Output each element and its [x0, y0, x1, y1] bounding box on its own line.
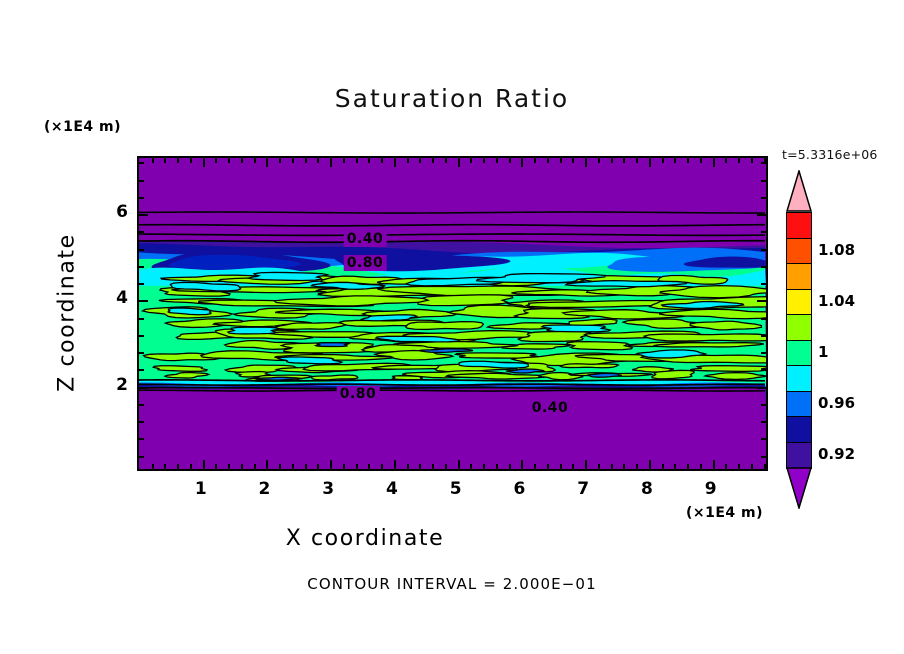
x-axis-top-tick — [177, 158, 179, 163]
x-axis-major-tick — [585, 460, 587, 469]
x-axis-minor-tick — [292, 464, 294, 469]
x-axis-minor-tick — [483, 464, 485, 469]
x-axis-major-tick — [713, 460, 715, 469]
x-axis-top-tick — [623, 158, 625, 163]
colorbar[interactable]: 1.081.0410.960.92 — [786, 212, 812, 467]
x-axis-top-tick — [585, 158, 587, 167]
x-axis-top-tick — [241, 158, 243, 163]
y-axis-right-tick — [761, 421, 766, 423]
x-axis-minor-tick — [547, 464, 549, 469]
y-axis-right-tick — [757, 387, 766, 389]
x-axis-top-tick — [215, 158, 217, 163]
x-axis-top-tick — [254, 158, 256, 163]
y-axis-right-tick — [757, 300, 766, 302]
x-axis-top-tick — [419, 158, 421, 163]
x-axis-minor-tick — [560, 464, 562, 469]
x-axis-minor-tick — [343, 464, 345, 469]
x-axis-top-tick — [203, 158, 205, 167]
x-axis-top-tick — [305, 158, 307, 163]
x-axis-minor-tick — [509, 464, 511, 469]
page-title: Saturation Ratio — [0, 84, 904, 113]
x-axis-top-tick — [228, 158, 230, 163]
x-axis-minor-tick — [228, 464, 230, 469]
colorbar-cell-0 — [786, 212, 812, 239]
y-axis-right-tick — [761, 283, 766, 285]
contour-plot-area[interactable] — [137, 156, 768, 471]
contour-label: 0.40 — [529, 400, 572, 416]
x-axis-minor-tick — [623, 464, 625, 469]
x-axis-top-tick — [394, 158, 396, 167]
x-axis-top-tick — [509, 158, 511, 163]
x-axis-top-tick — [547, 158, 549, 163]
x-axis-top-tick — [611, 158, 613, 163]
colorbar-cell-2 — [786, 263, 812, 290]
x-axis-top-tick — [152, 158, 154, 163]
x-axis-minor-tick — [317, 464, 319, 469]
y-axis-minor-tick — [139, 456, 144, 458]
x-axis-top-tick — [381, 158, 383, 163]
y-tick-label-2: 2 — [106, 375, 128, 395]
x-axis-minor-tick — [190, 464, 192, 469]
x-axis-minor-tick — [674, 464, 676, 469]
x-axis-top-tick — [725, 158, 727, 163]
x-axis-top-tick — [445, 158, 447, 163]
y-axis-minor-tick — [139, 369, 144, 371]
x-axis-top-tick — [496, 158, 498, 163]
y-axis-right-tick — [761, 456, 766, 458]
x-axis-minor-tick — [254, 464, 256, 469]
x-axis-top-tick — [636, 158, 638, 163]
x-tick-label-3: 3 — [322, 479, 334, 499]
x-axis-top-tick — [432, 158, 434, 163]
y-axis-major-tick — [139, 300, 148, 302]
x-axis-major-tick — [458, 460, 460, 469]
y-axis-minor-tick — [139, 162, 144, 164]
colorbar-cell-5 — [786, 340, 812, 367]
y-axis-minor-tick — [139, 249, 144, 251]
x-axis-minor-tick — [177, 464, 179, 469]
x-tick-label-6: 6 — [514, 479, 526, 499]
y-axis-right-tick — [761, 162, 766, 164]
x-axis-minor-tick — [611, 464, 613, 469]
contour-field — [139, 158, 766, 469]
x-axis-top-tick — [368, 158, 370, 163]
y-axis-minor-tick — [139, 352, 144, 354]
colorbar-cell-4 — [786, 314, 812, 341]
y-axis-right-tick — [757, 214, 766, 216]
x-axis-top-tick — [700, 158, 702, 163]
colorbar-cell-7 — [786, 391, 812, 418]
x-axis-minor-tick — [764, 464, 766, 469]
x-axis-minor-tick — [496, 464, 498, 469]
x-axis-minor-tick — [279, 464, 281, 469]
x-axis-top-tick — [572, 158, 574, 163]
x-axis-minor-tick — [381, 464, 383, 469]
y-axis-right-tick — [761, 318, 766, 320]
y-axis-right-tick — [761, 335, 766, 337]
x-axis-major-tick — [203, 460, 205, 469]
x-axis-top-tick — [751, 158, 753, 163]
y-axis-right-tick — [761, 266, 766, 268]
y-axis-major-tick — [139, 214, 148, 216]
x-axis-top-tick — [687, 158, 689, 163]
y-axis-right-tick — [761, 180, 766, 182]
y-axis-right-tick — [761, 369, 766, 371]
time-annotation: t=5.3316e+06 — [782, 147, 878, 162]
x-axis-top-tick — [343, 158, 345, 163]
colorbar-label-1: 1 — [818, 343, 828, 361]
y-axis-unit-label: (×1E4 m) — [44, 119, 121, 135]
x-axis-minor-tick — [432, 464, 434, 469]
x-axis-title: X coordinate — [0, 526, 730, 551]
x-axis-minor-tick — [751, 464, 753, 469]
y-axis-minor-tick — [139, 421, 144, 423]
x-axis-top-tick — [598, 158, 600, 163]
contour-label: 0.80 — [337, 386, 380, 402]
x-axis-top-tick — [534, 158, 536, 163]
colorbar-extend-top — [786, 170, 812, 212]
colorbar-label-0-96: 0.96 — [818, 394, 855, 412]
x-axis-major-tick — [649, 460, 651, 469]
x-axis-minor-tick — [241, 464, 243, 469]
x-axis-top-tick — [164, 158, 166, 163]
x-axis-top-tick — [292, 158, 294, 163]
x-tick-label-1: 1 — [195, 479, 207, 499]
x-axis-top-tick — [317, 158, 319, 163]
x-axis-top-tick — [560, 158, 562, 163]
contour-label: 0.80 — [344, 255, 387, 271]
x-tick-label-7: 7 — [577, 479, 589, 499]
contour-interval-caption: CONTOUR INTERVAL = 2.000E−01 — [0, 575, 904, 593]
y-axis-minor-tick — [139, 404, 144, 406]
x-axis-top-tick — [330, 158, 332, 167]
x-axis-minor-tick — [215, 464, 217, 469]
x-axis-minor-tick — [738, 464, 740, 469]
y-tick-label-4: 4 — [106, 288, 128, 308]
y-tick-label-6: 6 — [106, 202, 128, 222]
y-axis-right-tick — [761, 249, 766, 251]
x-axis-major-tick — [521, 460, 523, 469]
colorbar-cell-9 — [786, 442, 812, 469]
x-axis-minor-tick — [164, 464, 166, 469]
x-axis-minor-tick — [534, 464, 536, 469]
y-axis-title: Z coordinate — [55, 213, 80, 413]
y-axis-minor-tick — [139, 318, 144, 320]
x-axis-top-tick — [521, 158, 523, 167]
x-axis-minor-tick — [152, 464, 154, 469]
x-axis-top-tick — [190, 158, 192, 163]
x-axis-minor-tick — [636, 464, 638, 469]
x-axis-top-tick — [407, 158, 409, 163]
x-axis-major-tick — [266, 460, 268, 469]
x-axis-minor-tick — [662, 464, 664, 469]
x-axis-minor-tick — [368, 464, 370, 469]
x-tick-label-9: 9 — [705, 479, 717, 499]
x-axis-major-tick — [330, 460, 332, 469]
y-axis-minor-tick — [139, 266, 144, 268]
x-axis-minor-tick — [572, 464, 574, 469]
x-axis-minor-tick — [356, 464, 358, 469]
x-axis-top-tick — [266, 158, 268, 167]
y-axis-minor-tick — [139, 180, 144, 182]
y-axis-right-tick — [761, 197, 766, 199]
x-axis-minor-tick — [598, 464, 600, 469]
x-axis-top-tick — [738, 158, 740, 163]
x-axis-minor-tick — [700, 464, 702, 469]
x-axis-top-tick — [470, 158, 472, 163]
y-axis-right-tick — [761, 231, 766, 233]
x-axis-minor-tick — [470, 464, 472, 469]
y-axis-right-tick — [761, 404, 766, 406]
x-axis-minor-tick — [725, 464, 727, 469]
y-axis-minor-tick — [139, 438, 144, 440]
y-axis-minor-tick — [139, 283, 144, 285]
x-axis-top-tick — [662, 158, 664, 163]
x-axis-major-tick — [394, 460, 396, 469]
x-axis-top-tick — [356, 158, 358, 163]
x-axis-top-tick — [279, 158, 281, 163]
x-axis-minor-tick — [407, 464, 409, 469]
colorbar-label-0-92: 0.92 — [818, 445, 855, 463]
x-axis-minor-tick — [687, 464, 689, 469]
colorbar-cell-8 — [786, 416, 812, 443]
colorbar-extend-bottom — [786, 467, 812, 509]
y-axis-right-tick — [761, 438, 766, 440]
y-axis-major-tick — [139, 387, 148, 389]
x-tick-label-8: 8 — [641, 479, 653, 499]
colorbar-label-1-08: 1.08 — [818, 241, 855, 259]
x-axis-top-tick — [483, 158, 485, 163]
x-axis-minor-tick — [445, 464, 447, 469]
x-axis-top-tick — [458, 158, 460, 167]
x-axis-minor-tick — [305, 464, 307, 469]
x-axis-top-tick — [674, 158, 676, 163]
colorbar-cell-6 — [786, 365, 812, 392]
x-axis-top-tick — [713, 158, 715, 167]
x-axis-unit-label: (×1E4 m) — [686, 505, 763, 521]
x-tick-label-2: 2 — [259, 479, 271, 499]
y-axis-minor-tick — [139, 335, 144, 337]
y-axis-minor-tick — [139, 197, 144, 199]
colorbar-cell-3 — [786, 289, 812, 316]
x-axis-top-tick — [649, 158, 651, 167]
y-axis-right-tick — [761, 352, 766, 354]
colorbar-label-1-04: 1.04 — [818, 292, 855, 310]
contour-label: 0.40 — [344, 231, 387, 247]
x-tick-label-5: 5 — [450, 479, 462, 499]
colorbar-cell-1 — [786, 238, 812, 265]
y-axis-minor-tick — [139, 231, 144, 233]
x-axis-minor-tick — [419, 464, 421, 469]
x-tick-label-4: 4 — [386, 479, 398, 499]
